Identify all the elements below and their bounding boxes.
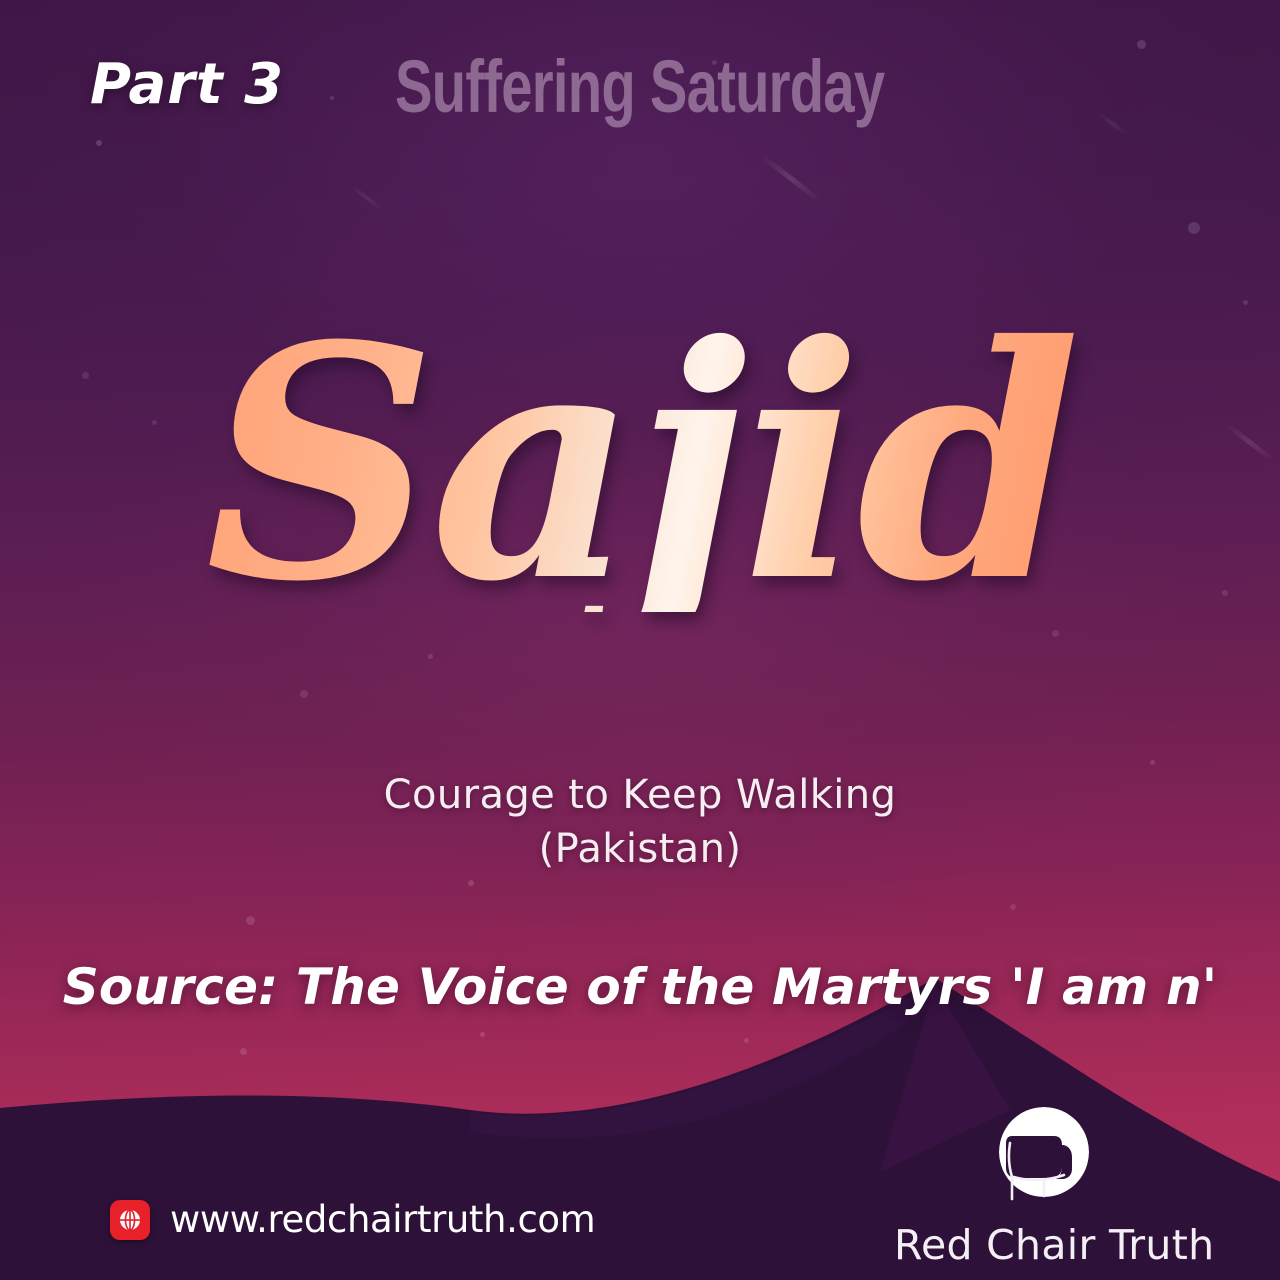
brand-name: Red Chair Truth (894, 1221, 1194, 1269)
brand-block[interactable]: Red Chair Truth (894, 1095, 1194, 1269)
series-watermark: Suffering Saturday (395, 44, 884, 129)
globe-icon (110, 1200, 150, 1240)
subtitle-country: (Pakistan) (0, 822, 1280, 876)
subtitle-tagline: Courage to Keep Walking (384, 772, 897, 818)
poster-canvas: Part 3 Suffering Saturday Sajid Courage … (0, 0, 1280, 1280)
website-row[interactable]: www.redchairtruth.com (110, 1198, 595, 1241)
hero-name-block: Sajid (0, 318, 1280, 612)
subtitle-block: Courage to Keep Walking (Pakistan) (0, 768, 1280, 876)
martyr-name: Sajid (205, 318, 1075, 612)
source-attribution: Source: The Voice of the Martyrs 'I am n… (0, 958, 1280, 1016)
red-chair-circle-logo-icon (982, 1095, 1106, 1219)
poster-header: Part 3 Suffering Saturday (0, 52, 1280, 148)
part-label: Part 3 (90, 52, 284, 117)
website-url[interactable]: www.redchairtruth.com (170, 1198, 595, 1241)
